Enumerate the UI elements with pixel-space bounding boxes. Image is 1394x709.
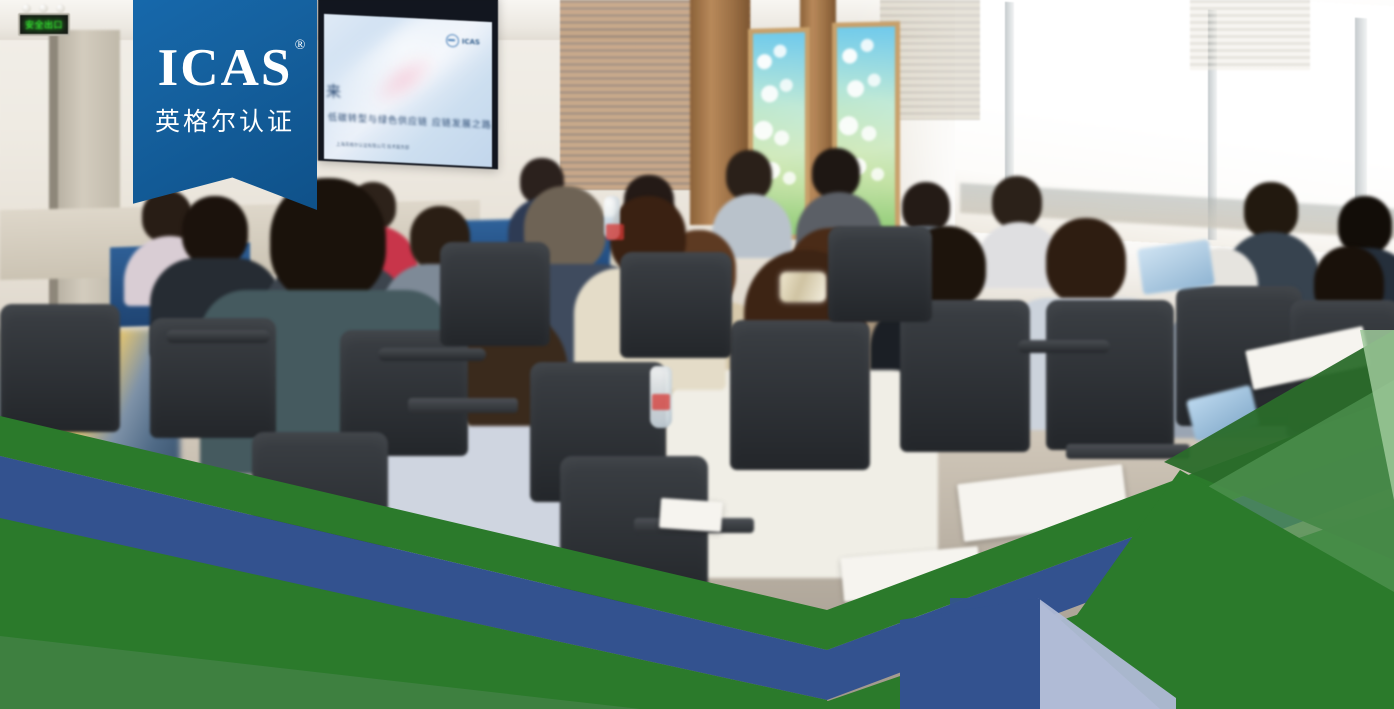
exit-sign-label: 安全出口 xyxy=(20,15,68,34)
slide-logo-icon xyxy=(446,34,459,48)
tablet-device xyxy=(1140,244,1212,290)
slide-logo-text: ICAS xyxy=(462,37,480,46)
chair-arm xyxy=(1018,340,1110,353)
icas-logo-panel: ICAS® 英格尔认证 xyxy=(133,0,317,210)
window-blinds xyxy=(1190,0,1310,70)
exit-sign: 安全出口 xyxy=(18,13,70,36)
chair xyxy=(620,252,732,358)
hair-clip xyxy=(780,272,826,302)
chair xyxy=(440,242,550,346)
icas-wordmark: ICAS® xyxy=(158,42,293,95)
chair-arm xyxy=(378,348,486,361)
water-bottle xyxy=(650,366,672,428)
slide-title: 来 xyxy=(326,80,343,102)
icas-wordmark-text: ICAS xyxy=(158,39,293,97)
chair xyxy=(1046,300,1174,450)
banner-stage: 安全出口 ICAS 来 低碳转型与绿色供应链 应链发展之路 上海英格尔认证有限公… xyxy=(0,0,1394,709)
chair xyxy=(730,320,870,470)
slide-footnote: 上海英格尔认证有限公司 技术服务部 xyxy=(336,142,409,152)
water-bottle xyxy=(604,196,620,240)
registered-mark: ® xyxy=(295,39,308,53)
chair-tablet xyxy=(408,398,518,413)
chair-tablet xyxy=(1066,444,1190,459)
chair xyxy=(828,226,932,322)
chair xyxy=(900,300,1030,452)
chair-arm xyxy=(166,330,270,343)
chair xyxy=(0,304,120,432)
projector-screen: ICAS 来 低碳转型与绿色供应链 应链发展之路 上海英格尔认证有限公司 技术服… xyxy=(324,14,492,167)
icas-chinese-name: 英格尔认证 xyxy=(155,102,295,138)
tablet-device xyxy=(1190,392,1256,434)
handout-paper xyxy=(659,498,723,532)
slide-logo: ICAS xyxy=(446,34,480,49)
chair xyxy=(252,432,388,572)
